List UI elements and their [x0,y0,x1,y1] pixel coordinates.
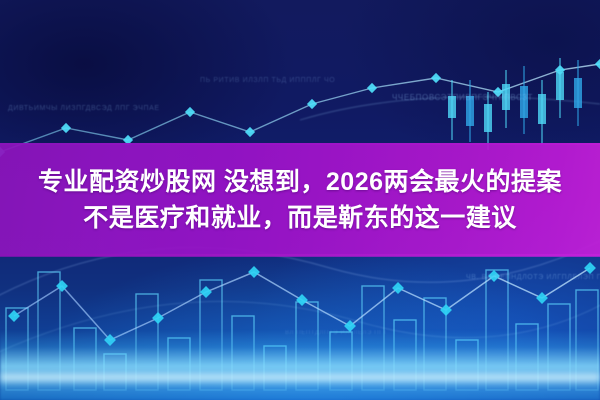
chart-data-point [61,123,71,133]
candlestick-body [556,72,564,100]
candlestick-body [538,94,546,124]
candlestick-body [574,78,582,108]
chart-data-point [200,286,212,298]
chart-data-point [307,99,317,109]
banner-image: ЧЧЕБПОВСЭТПИВПГЭЧП/ПВСЗТДИВТЬИМЧЫ ЛИЗПГД… [0,0,600,400]
headline-line-2: 不是医疗和就业，而是靳东的这一建议 [83,202,517,234]
chart-data-point [536,292,548,304]
chart-data-point [440,304,452,316]
bottom-glow [0,330,600,400]
chart-data-point [584,262,596,274]
chart-data-point [185,107,195,117]
watermark-text: ВЛ ПЕПТДЛПТЭ ИЛГЛЕЛЭ ПГТ [285,330,387,336]
chart-data-point [296,294,308,306]
candlestick-body [484,104,492,132]
watermark-text: ПЬ РИТИВ ИЛЗЛП ТЬД ИПППЛГ ЧО [200,77,335,84]
headline-line-1: 专业配资炒股网 没想到，2026两会最火的提案 [38,166,562,198]
chart-data-point [152,312,164,324]
chart-data-point [595,59,600,69]
chart-data-point [248,266,260,278]
bottom-glow-core [0,370,600,386]
watermark-text: ДИВТЬИМЧЫ ЛИЗПГДВСЭД ЛПГ ЭЧПАЕ [8,105,160,112]
chart-data-point [431,73,441,83]
chart-data-point [367,83,377,93]
watermark-text: ЧВ. ВЛ ПЕПНДЛОТЭ ИЛГПЛЕЛЭП ГТ Т [466,274,600,281]
headline-block: 专业配资炒股网 没想到，2026两会最火的提案 不是医疗和就业，而是靳东的这一建… [0,143,600,256]
chart-data-point [245,127,255,137]
candlestick-body [520,86,528,118]
watermark-text: ЧЧЕБПОВСЭТПИВПГЭЧП/ПВСЗТ [392,93,533,102]
chart-data-point [8,310,20,322]
